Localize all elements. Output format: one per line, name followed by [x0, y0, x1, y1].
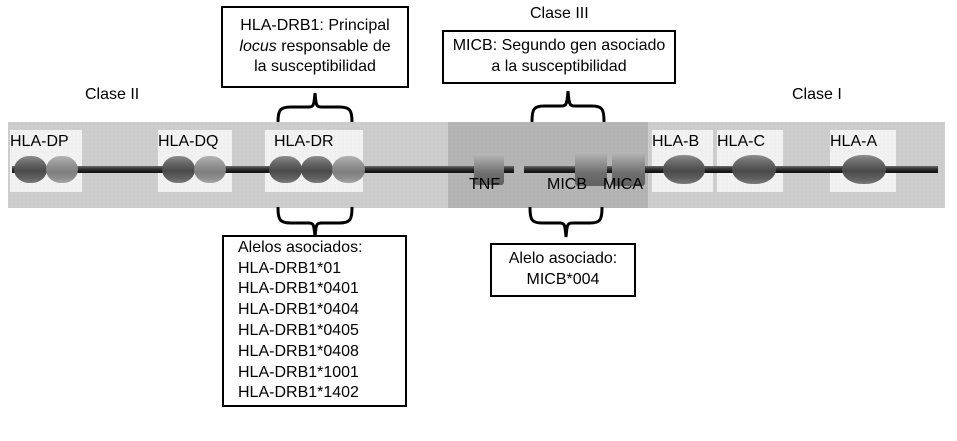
gene-label-hla-dq: HLA-DQ [158, 133, 218, 151]
gene-locus-hla-dp-2 [46, 156, 78, 183]
alelos-drb1-item-0: HLA-DRB1*01 [224, 259, 341, 280]
gene-locus-hla-c [732, 155, 776, 184]
gene-label-hla-dp: HLA-DP [10, 133, 69, 151]
gene-locus-hla-a [842, 155, 886, 184]
gene-locus-hla-dq-2 [194, 156, 226, 183]
gene-label-micb: MICB [547, 176, 587, 194]
callout-drb1-line1: HLA-DRB1: Principal [240, 16, 389, 37]
callout-alelos-drb1: Alelos asociados: HLA-DRB1*01 HLA-DRB1*0… [222, 235, 407, 407]
callout-micb-line1: MICB: Segundo gen asociado [453, 36, 666, 57]
alelos-drb1-item-3: HLA-DRB1*0405 [224, 321, 359, 342]
callout-micb: MICB: Segundo gen asociado a la suscepti… [442, 30, 676, 84]
alelos-drb1-item-1: HLA-DRB1*0401 [224, 279, 359, 300]
gene-label-mica: MICA [603, 176, 643, 194]
gene-locus-hla-dr-3 [332, 156, 365, 183]
gene-locus-hla-dq-1 [162, 156, 195, 183]
section-title-class-i: Clase I [792, 86, 842, 104]
gene-label-tnf: TNF [469, 176, 500, 194]
callout-drb1-line2: locus responsable de [239, 37, 390, 58]
dna-line-class-ii [12, 166, 459, 173]
gene-locus-hla-dr-2 [301, 156, 333, 183]
gene-locus-hla-b [663, 155, 705, 184]
alelos-drb1-item-6: HLA-DRB1*1402 [224, 383, 359, 404]
gene-label-hla-a: HLA-A [830, 133, 877, 151]
section-title-class-iii: Clase III [530, 5, 589, 23]
brace-upper-micb [529, 88, 607, 122]
section-title-class-ii: Clase II [85, 86, 139, 104]
alelo-micb-item: MICB*004 [527, 270, 600, 291]
callout-hla-drb1: HLA-DRB1: Principal locus responsable de… [221, 6, 409, 88]
callout-drb1-line3: la susceptibilidad [254, 57, 376, 78]
alelos-drb1-item-5: HLA-DRB1*1001 [224, 363, 359, 384]
hla-chromosome-band: HLA-DP HLA-DQ HLA-DR TNF MICB MICA HLA-B… [8, 122, 945, 208]
callout-drb1-locus-italic: locus [239, 38, 276, 55]
gene-locus-hla-dp-1 [14, 156, 47, 183]
gene-label-hla-dr: HLA-DR [274, 133, 334, 151]
alelos-drb1-heading: Alelos asociados: [224, 238, 363, 259]
alelos-drb1-item-2: HLA-DRB1*0404 [224, 300, 359, 321]
alelos-drb1-item-4: HLA-DRB1*0408 [224, 342, 359, 363]
alelo-micb-heading: Alelo asociado: [509, 249, 618, 270]
gene-label-hla-c: HLA-C [717, 133, 765, 151]
brace-upper-hla-dr [275, 90, 355, 123]
hla-map-figure: HLA-DRB1: Principal locus responsable de… [0, 0, 957, 441]
callout-drb1-line2-rest: responsable de [277, 38, 391, 55]
callout-micb-line2: a la susceptibilidad [491, 57, 626, 78]
callout-alelo-micb: Alelo asociado: MICB*004 [490, 243, 636, 297]
brace-lower-micb [527, 207, 605, 240]
gene-locus-hla-dr-1 [269, 156, 302, 183]
gene-label-hla-b: HLA-B [652, 133, 699, 151]
